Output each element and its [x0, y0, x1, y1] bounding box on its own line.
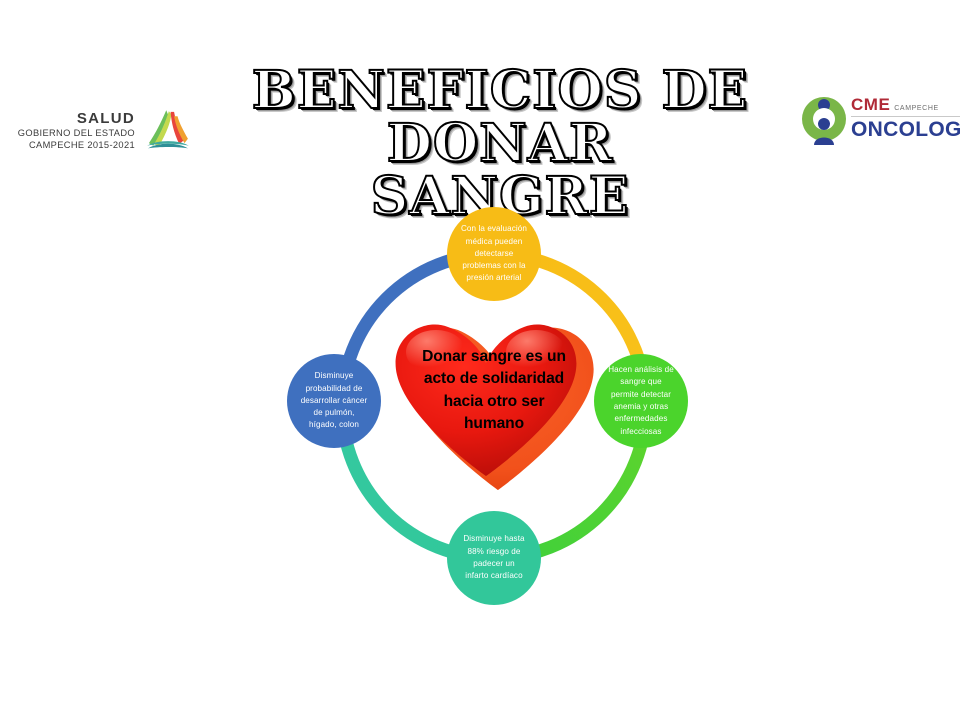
cme-logo-top-row: CME Campeche [851, 95, 960, 117]
heart-message-line-3: hacia otro ser [402, 391, 586, 413]
central-heart: Donar sangre es un acto de solidaridad h… [386, 304, 602, 494]
campeche-arch-mark-icon [142, 105, 194, 157]
people-circle-mark-icon [800, 93, 848, 145]
heart-message-line-4: humano [402, 413, 586, 435]
node-right-line-2: sangre que [608, 376, 674, 388]
benefit-node-heart-attack-label: Disminuye hasta 88% riesgo de padecer un… [463, 533, 524, 582]
node-left-line-3: desarrollar cáncer [301, 395, 368, 407]
infographic-canvas: Beneficios de Donar Sangre SALUD GOBIERN… [0, 0, 960, 720]
benefit-node-heart-attack[interactable]: Disminuye hasta 88% riesgo de padecer un… [447, 511, 541, 605]
node-bottom-line-3: padecer un [463, 558, 524, 570]
node-right-line-5: enfermedades [608, 413, 674, 425]
node-right-line-4: anemia y otras [608, 401, 674, 413]
heart-message: Donar sangre es un acto de solidaridad h… [402, 346, 586, 436]
benefit-node-blood-pressure-label: Con la evaluación médica pueden detectar… [461, 223, 527, 284]
salud-logo-subtitle-2: CAMPECHE 2015-2021 [14, 139, 135, 151]
node-top-line-1: Con la evaluación [461, 223, 527, 235]
heart-message-line-2: acto de solidaridad [402, 368, 586, 390]
node-left-line-1: Disminuye [301, 370, 368, 382]
page-title-line-1: Beneficios de Donar [200, 64, 800, 170]
benefit-node-blood-analysis[interactable]: Hacen análisis de sangre que permite det… [594, 354, 688, 448]
salud-logo-title: SALUD [14, 111, 135, 128]
node-left-line-5: hígado, colon [301, 419, 368, 431]
salud-logo-text: SALUD GOBIERNO DEL ESTADO CAMPECHE 2015-… [14, 111, 142, 152]
node-right-line-6: infecciosas [608, 426, 674, 438]
node-left-line-2: probabilidad de [301, 383, 368, 395]
benefit-node-blood-analysis-label: Hacen análisis de sangre que permite det… [608, 364, 674, 438]
node-bottom-line-4: infarto cardíaco [463, 570, 524, 582]
node-bottom-line-1: Disminuye hasta [463, 533, 524, 545]
node-top-line-5: presión arterial [461, 272, 527, 284]
node-right-line-1: Hacen análisis de [608, 364, 674, 376]
node-top-line-2: médica pueden [461, 236, 527, 248]
benefit-node-cancer[interactable]: Disminuye probabilidad de desarrollar cá… [287, 354, 381, 448]
salud-logo-subtitle-1: GOBIERNO DEL ESTADO [14, 127, 135, 139]
benefits-cycle-diagram: Donar sangre es un acto de solidaridad h… [274, 186, 714, 626]
benefit-node-cancer-label: Disminuye probabilidad de desarrollar cá… [301, 370, 368, 431]
node-top-line-3: detectarse [461, 248, 527, 260]
node-bottom-line-2: 88% riesgo de [463, 546, 524, 558]
cme-logo-oncologia: ONCOLOGIA [851, 118, 960, 142]
cme-logo-text: CME Campeche ONCOLOGIA [848, 95, 960, 142]
heart-message-line-1: Donar sangre es un [402, 346, 586, 368]
cme-oncologia-logo: CME Campeche ONCOLOGIA [800, 88, 958, 150]
node-left-line-4: de pulmón, [301, 407, 368, 419]
salud-gobierno-campeche-logo: SALUD GOBIERNO DEL ESTADO CAMPECHE 2015-… [14, 100, 194, 162]
node-top-line-4: problemas con la [461, 260, 527, 272]
cme-logo-campeche: Campeche [894, 101, 938, 113]
benefit-node-blood-pressure[interactable]: Con la evaluación médica pueden detectar… [447, 207, 541, 301]
node-right-line-3: permite detectar [608, 389, 674, 401]
cme-logo-acronym: CME [851, 95, 890, 115]
